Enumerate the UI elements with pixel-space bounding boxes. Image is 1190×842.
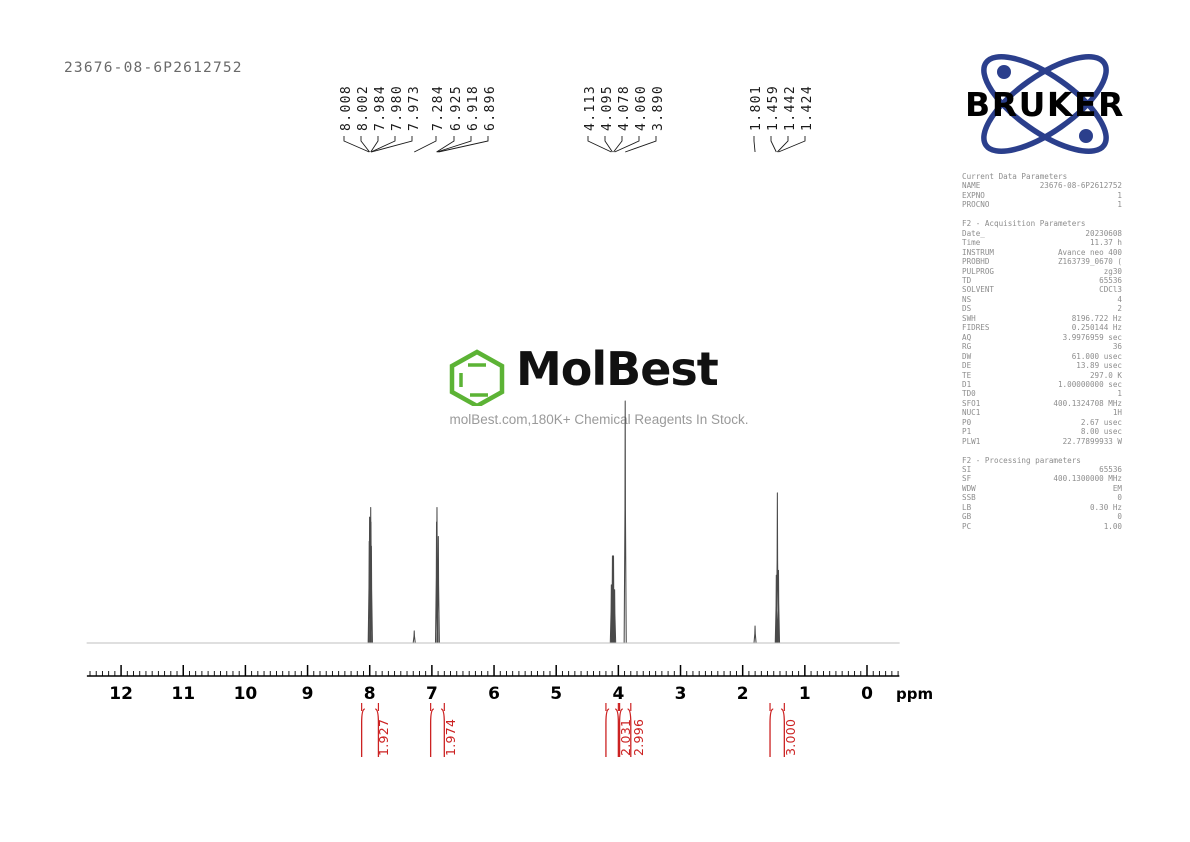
integral-value-label: 2.996 <box>631 719 646 756</box>
integral-layer: 1.9271.9742.0312.9963.000 <box>0 0 1190 842</box>
integral-value-label: 1.927 <box>376 719 391 756</box>
integral-value-label: 1.974 <box>443 719 458 756</box>
integral-value-label: 3.000 <box>783 719 798 756</box>
